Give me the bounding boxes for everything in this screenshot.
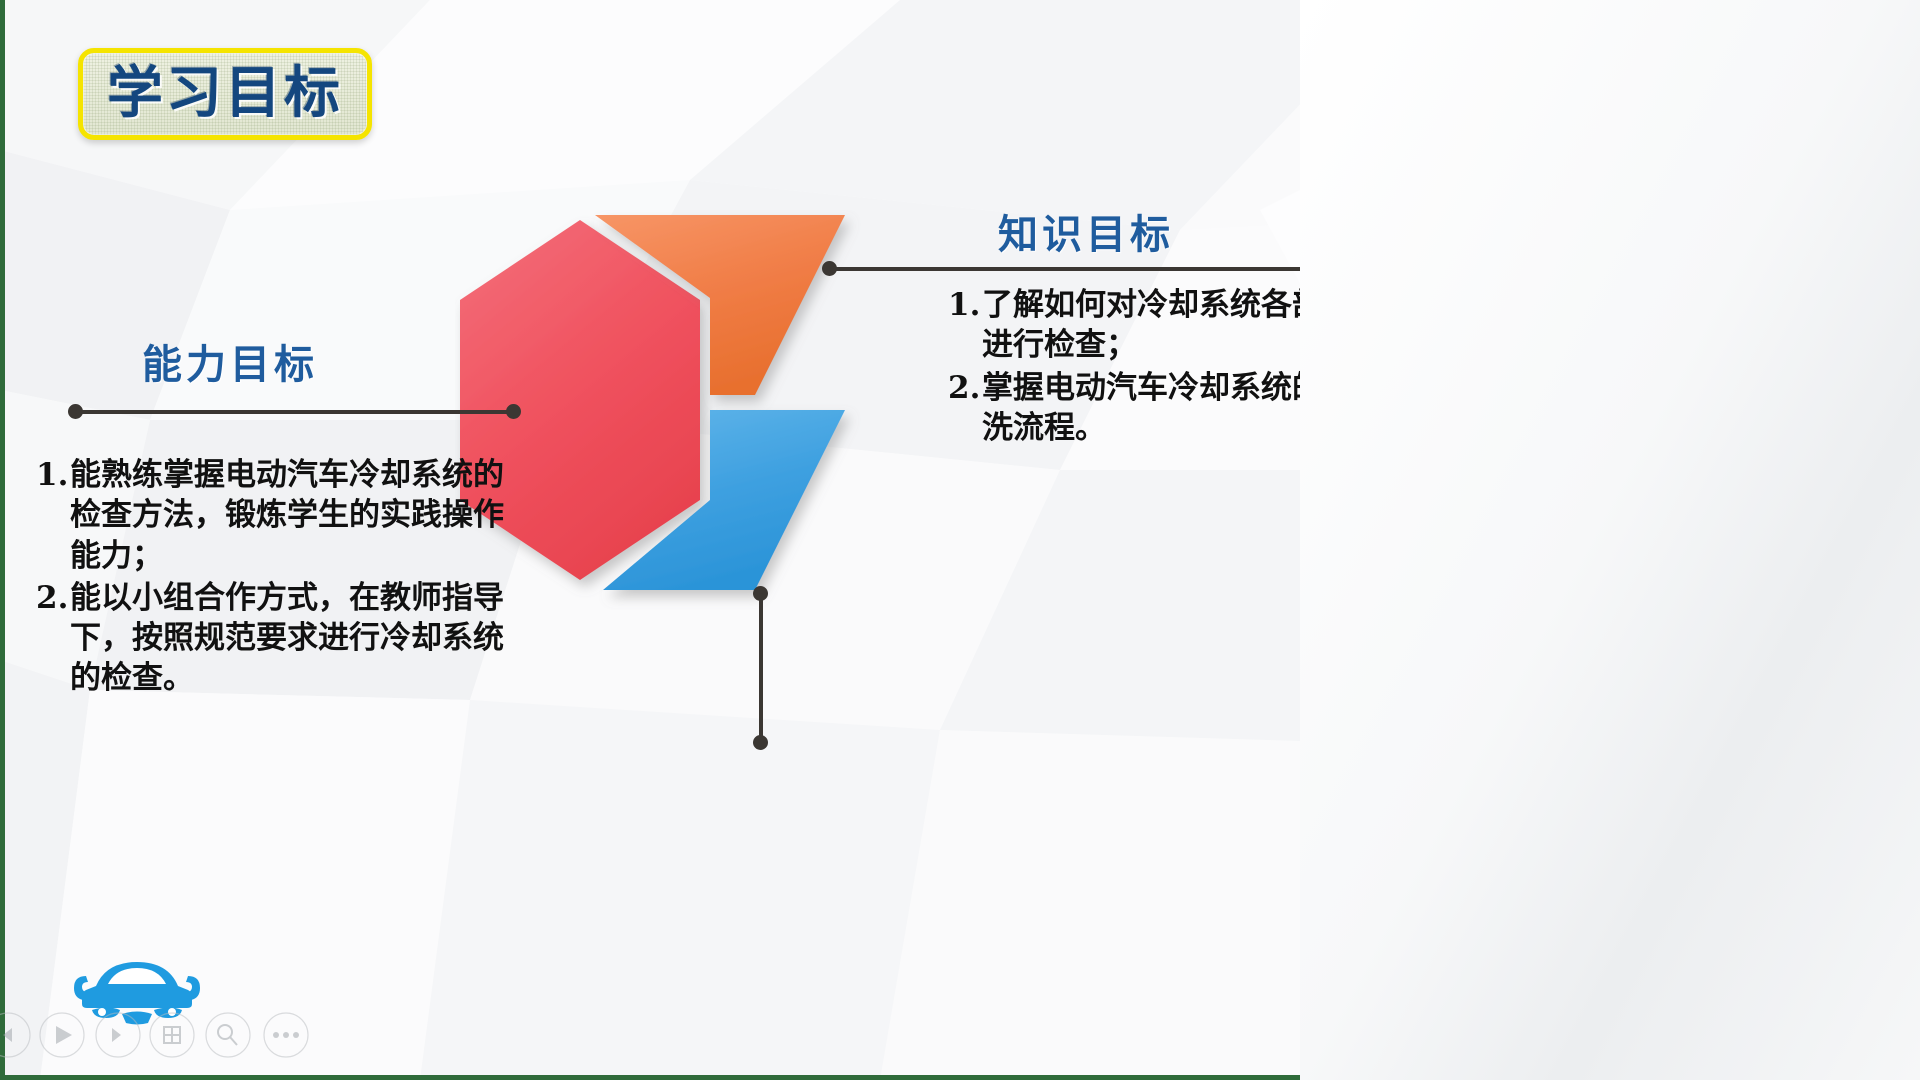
left-border-rule xyxy=(0,0,5,1080)
list-item-number: 1. xyxy=(36,455,70,576)
more-icon xyxy=(273,1032,299,1038)
next-icon xyxy=(112,1028,121,1042)
knowledge-connector-line xyxy=(829,267,1344,271)
player-control-bar[interactable] xyxy=(0,1008,330,1062)
grid-icon-line xyxy=(164,1027,180,1043)
page-title: 学习目标 xyxy=(107,66,343,122)
section-heading-knowledge: 知识目标 xyxy=(998,202,1174,260)
list-item-text: 能以小组合作方式，在教师指导下，按照规范要求进行冷却系统的检查。 xyxy=(70,578,506,699)
section-heading-ability: 能力目标 xyxy=(142,332,318,390)
list-item-number: 2. xyxy=(36,578,70,699)
blank-connector-dot-bottom xyxy=(753,735,768,750)
ability-connector-line xyxy=(75,410,515,414)
presenter-video xyxy=(1300,0,1920,1080)
presenter-background xyxy=(1300,0,1920,1080)
objective-list-ability: 1. 能熟练掌握电动汽车冷却系统的检查方法，锻炼学生的实践操作能力； 2. 能以… xyxy=(36,455,506,701)
list-item: 1. 能熟练掌握电动汽车冷却系统的检查方法，锻炼学生的实践操作能力； xyxy=(36,455,506,576)
slide-canvas: 学习目标 xyxy=(0,0,1920,1080)
blank-connector-line xyxy=(759,593,763,741)
list-item-number: 2. xyxy=(948,368,982,449)
search-icon xyxy=(218,1025,237,1045)
list-item: 2. 能以小组合作方式，在教师指导下，按照规范要求进行冷却系统的检查。 xyxy=(36,578,506,699)
list-item-text: 能熟练掌握电动汽车冷却系统的检查方法，锻炼学生的实践操作能力； xyxy=(70,455,506,576)
slide-title-badge: 学习目标 xyxy=(78,48,372,140)
previous-icon xyxy=(3,1028,12,1042)
play-icon xyxy=(56,1026,72,1044)
list-item-number: 1. xyxy=(948,285,982,366)
ability-connector-dot-right xyxy=(506,404,521,419)
